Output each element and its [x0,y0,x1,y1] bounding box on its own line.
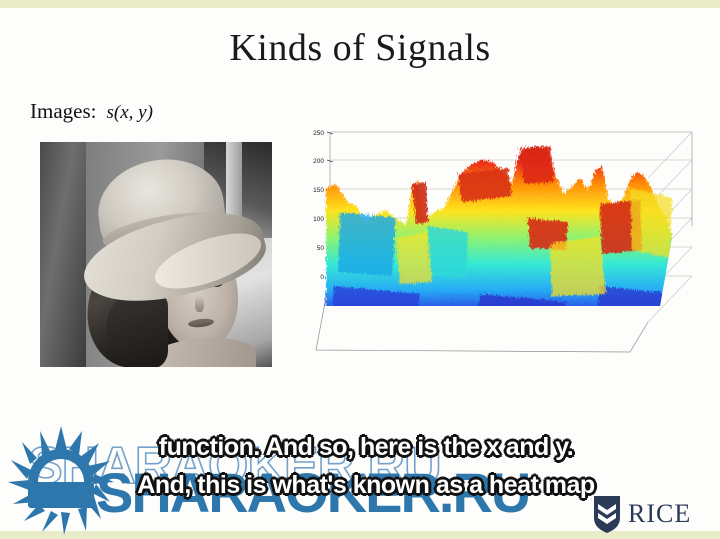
z-axis-tick-labels: 250 200 150 100 50 0 [313,130,324,281]
slide-canvas: Kinds of Signals Images:s(x, y) [0,0,720,539]
lena-grayscale-image [40,142,272,367]
sunburst-icon [6,424,116,536]
top-accent-band [0,0,720,8]
z-tick-200: 200 [313,158,324,165]
images-label-text: Images: [30,99,96,123]
surface-mesh [326,146,672,338]
images-label-line: Images:s(x, y) [30,99,153,124]
rice-university-logo: RICE [592,492,714,536]
surface-plot-figure: 250 200 150 100 50 0 [300,126,700,366]
sunburst-icon-svg [6,424,116,536]
lena-feather-plume-lower [106,292,168,367]
rice-wordmark: RICE [628,499,691,529]
z-tick-250: 250 [313,130,324,137]
lena-nose [195,296,204,312]
lena-bg-left [40,142,86,367]
z-tick-50: 50 [317,245,325,252]
z-tick-100: 100 [313,216,324,223]
rice-shield-icon [592,494,622,534]
z-tick-0: 0 [320,274,324,281]
surface-plot-svg: 250 200 150 100 50 0 [300,126,700,366]
page-title: Kinds of Signals [0,26,720,70]
z-tick-150: 150 [313,187,324,194]
signal-function-notation: s(x, y) [106,102,152,123]
